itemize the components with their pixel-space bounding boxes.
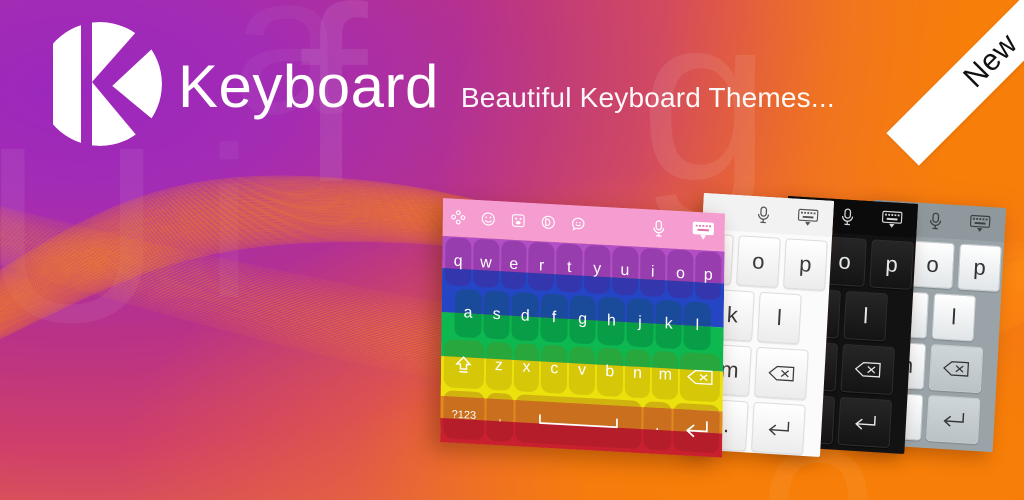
key-f[interactable]: f	[540, 293, 567, 342]
key-i[interactable]: i	[640, 248, 666, 297]
keyboard-hide-icon[interactable]	[881, 210, 904, 229]
key-l[interactable]: l	[932, 293, 977, 342]
backspace-key[interactable]	[840, 344, 895, 395]
key-n[interactable]: n	[624, 349, 650, 398]
key-p[interactable]: p	[783, 238, 828, 291]
microphone-icon[interactable]	[652, 218, 666, 238]
key-z[interactable]: z	[486, 341, 512, 390]
key-h[interactable]: h	[598, 297, 625, 346]
rainbow-content: q w e r t y u i o p a s d	[440, 198, 725, 458]
key-c[interactable]: c	[541, 345, 567, 394]
enter-key[interactable]	[673, 403, 720, 454]
banner-stage: a f g U i o	[0, 0, 1024, 500]
key-u[interactable]: u	[612, 246, 638, 295]
key-l[interactable]: l	[843, 291, 888, 342]
key-g[interactable]: g	[569, 295, 596, 344]
backspace-key[interactable]	[680, 352, 720, 402]
key-a[interactable]: a	[454, 289, 481, 338]
keyboard-hide-icon[interactable]	[969, 214, 992, 233]
key-t[interactable]: t	[556, 243, 582, 292]
emoji-food-icon[interactable]	[541, 214, 556, 230]
enter-key[interactable]	[751, 402, 806, 455]
key-s[interactable]: s	[483, 290, 510, 339]
key-m[interactable]: m	[652, 351, 678, 400]
microphone-icon[interactable]	[840, 207, 856, 226]
emoji-chat-icon[interactable]	[571, 216, 586, 232]
key-b[interactable]: b	[597, 348, 623, 397]
keyboard-hide-icon[interactable]	[692, 220, 715, 240]
rainbow-toolbar-actions	[652, 218, 715, 240]
key-x[interactable]: x	[513, 343, 539, 392]
space-key[interactable]	[515, 394, 641, 449]
shift-key[interactable]	[444, 339, 484, 389]
microphone-icon[interactable]	[928, 211, 944, 230]
key-w[interactable]: w	[473, 239, 499, 288]
theme-preview-rainbow[interactable]: q w e r t y u i o p a s d	[440, 198, 725, 458]
key-q[interactable]: q	[445, 237, 471, 286]
key-v[interactable]: v	[569, 346, 595, 395]
emoji-smiley-icon[interactable]	[481, 211, 496, 227]
keyboard-previews: i o p k l m	[0, 0, 1024, 500]
symbols-key[interactable]: ?123	[443, 390, 485, 440]
key-r[interactable]: r	[528, 242, 554, 291]
backspace-key[interactable]	[754, 347, 809, 400]
key-e[interactable]: e	[501, 240, 527, 289]
key-p[interactable]: p	[957, 243, 1002, 292]
key-o[interactable]: o	[667, 249, 693, 298]
enter-key[interactable]	[926, 395, 981, 444]
enter-key[interactable]	[838, 397, 893, 448]
key-y[interactable]: y	[584, 245, 610, 294]
key-k[interactable]: k	[655, 300, 682, 349]
key-l[interactable]: l	[684, 301, 711, 350]
period-key[interactable]: .	[643, 401, 671, 451]
keyboard-hide-icon[interactable]	[797, 208, 820, 227]
backspace-key[interactable]	[929, 344, 984, 393]
emoji-animals-icon[interactable]	[511, 212, 526, 228]
key-o[interactable]: o	[736, 235, 781, 288]
key-p[interactable]: p	[695, 251, 721, 300]
key-d[interactable]: d	[512, 292, 539, 341]
microphone-icon[interactable]	[756, 205, 772, 224]
emoji-category-icons	[451, 209, 586, 231]
emoji-recent-icon[interactable]	[451, 209, 466, 225]
key-j[interactable]: j	[626, 298, 653, 347]
key-l[interactable]: l	[757, 292, 802, 345]
key-o[interactable]: o	[910, 241, 955, 290]
comma-key[interactable]: ,	[486, 393, 514, 443]
key-p[interactable]: p	[869, 239, 914, 290]
rainbow-key-rows: q w e r t y u i o p a s d	[440, 234, 724, 458]
